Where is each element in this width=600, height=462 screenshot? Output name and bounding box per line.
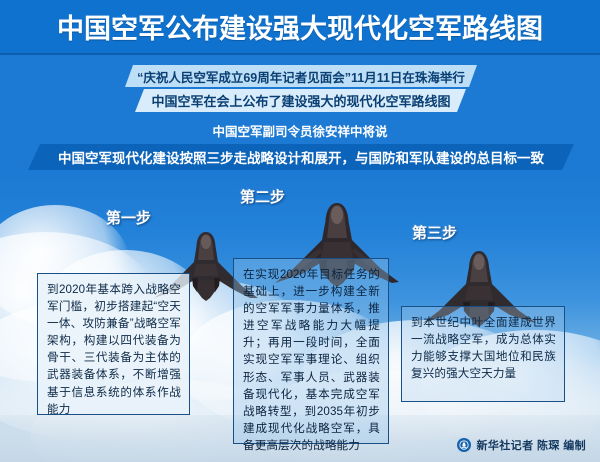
step-textbox-3: 到本世纪中叶全面建成世界一流战略空军，成为总体实力能够支撑大国地位和民族复兴的强… <box>401 306 565 402</box>
banner-speaker: 中国空军副司令员徐安祥中将说 <box>150 120 450 140</box>
step-textbox-1: 到2020年基本跨入战略空军门槛，初步搭建起“空天一体、攻防兼备”战略空军架构，… <box>37 273 190 415</box>
step-label-2: 第二步 <box>240 186 285 207</box>
step-textbox-2: 在实现2020年目标任务的基础上，进一步构建全新的空军军事力量体系，推进空军战略… <box>233 258 389 444</box>
poster-header: 中国空军公布建设强大现代化空军路线图 <box>0 0 600 55</box>
step-label-1: 第一步 <box>106 207 151 228</box>
xinhua-logo-icon <box>457 438 471 452</box>
banner-announce: 中国空军在会上公布了建设强大的现代化空军路线图 <box>135 89 467 112</box>
banner-event: “庆祝人民空军成立69周年记者见面会”11月11日在珠海举行 <box>125 65 477 87</box>
page-title: 中国空军公布建设强大现代化空军路线图 <box>57 7 543 46</box>
banner-strategy: 中国空军现代化建设按照三步走战略设计和展开，与国防和军队建设的总目标一致 <box>28 144 574 170</box>
infographic-poster: 中国空军公布建设强大现代化空军路线图 “庆祝人民空军成立69周年记者见面会”11… <box>0 0 600 462</box>
step-label-3: 第三步 <box>412 222 457 243</box>
credit-text: 新华社记者 陈琛 编制 <box>476 437 586 453</box>
credit-line: 新华社记者 陈琛 编制 <box>457 437 586 453</box>
